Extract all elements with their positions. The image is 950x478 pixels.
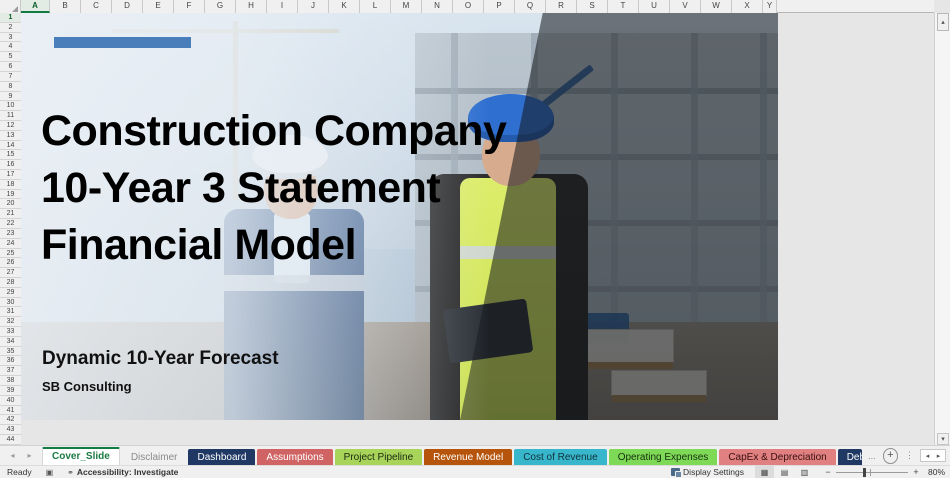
sheet-tab-operating-expenses[interactable]: Operating Expenses (609, 449, 718, 466)
row-header-37[interactable]: 37 (0, 366, 21, 376)
tab-nav-prev-icon[interactable]: ◂ (4, 447, 21, 464)
row-header-8[interactable]: 8 (0, 82, 21, 92)
column-header-p[interactable]: P (484, 0, 515, 13)
row-header-28[interactable]: 28 (0, 278, 21, 288)
tab-nav-next-icon[interactable]: ▸ (21, 447, 38, 464)
row-header-15[interactable]: 15 (0, 150, 21, 160)
row-header-16[interactable]: 16 (0, 160, 21, 170)
column-header-m[interactable]: M (391, 0, 422, 13)
row-header-41[interactable]: 41 (0, 406, 21, 416)
zoom-control[interactable]: − + (818, 467, 926, 477)
row-header-22[interactable]: 22 (0, 219, 21, 229)
zoom-percentage[interactable]: 80% (926, 467, 950, 477)
horizontal-scrollbar[interactable]: ◂ ▸ (920, 449, 946, 462)
row-header-19[interactable]: 19 (0, 190, 21, 200)
column-header-l[interactable]: L (360, 0, 391, 13)
excel-window: ABCDEFGHIJKLMNOPQRSTUVWXY 12345678910111… (0, 0, 950, 478)
column-header-n[interactable]: N (422, 0, 453, 13)
column-header-j[interactable]: J (298, 0, 329, 13)
status-bar: Ready ▣ ⚭ Accessibility: Investigate Dis… (0, 465, 950, 478)
row-header-3[interactable]: 3 (0, 33, 21, 43)
row-header-44[interactable]: 44 (0, 435, 21, 445)
sheet-tab-assumptions[interactable]: Assumptions (257, 449, 332, 466)
column-header-e[interactable]: E (143, 0, 174, 13)
worksheet-grid[interactable]: Construction Company 10-Year 3 Statement… (21, 13, 934, 445)
display-settings-label: Display Settings (683, 467, 744, 477)
page-layout-view-button[interactable]: ▤ (775, 466, 794, 478)
row-header-33[interactable]: 33 (0, 327, 21, 337)
zoom-midpoint-tick (870, 469, 871, 476)
column-header-c[interactable]: C (81, 0, 112, 13)
row-header-34[interactable]: 34 (0, 337, 21, 347)
row-header-4[interactable]: 4 (0, 42, 21, 52)
column-header-a[interactable]: A (21, 0, 50, 13)
row-header-31[interactable]: 31 (0, 307, 21, 317)
zoom-slider-track[interactable] (836, 472, 908, 473)
row-header-7[interactable]: 7 (0, 72, 21, 82)
column-header-w[interactable]: W (701, 0, 732, 13)
row-header-27[interactable]: 27 (0, 268, 21, 278)
column-header-s[interactable]: S (577, 0, 608, 13)
zoom-slider-handle[interactable] (863, 468, 866, 477)
column-header-o[interactable]: O (453, 0, 484, 13)
scroll-down-button[interactable]: ▾ (937, 433, 949, 445)
sheet-tab-disclaimer[interactable]: Disclaimer (122, 449, 187, 466)
vertical-scrollbar[interactable]: ▴ ▾ (934, 13, 950, 445)
column-header-b[interactable]: B (50, 0, 81, 13)
page-break-view-button[interactable]: ▥ (795, 466, 814, 478)
column-header-k[interactable]: K (329, 0, 360, 13)
column-header-strip: ABCDEFGHIJKLMNOPQRSTUVWXY (0, 0, 934, 13)
view-buttons: ▦▤▥ (751, 466, 818, 478)
sheet-tab-dashboard[interactable]: Dashboard (188, 449, 255, 466)
sheet-tab-debt-sched[interactable]: Debt Sched (838, 449, 862, 466)
row-header-38[interactable]: 38 (0, 376, 21, 386)
sheet-tabs: Cover_SlideDisclaimerDashboardAssumption… (42, 446, 864, 466)
display-settings-icon (671, 468, 680, 476)
row-header-11[interactable]: 11 (0, 111, 21, 121)
column-header-f[interactable]: F (174, 0, 205, 13)
zoom-out-button[interactable]: − (824, 467, 832, 477)
row-header-18[interactable]: 18 (0, 180, 21, 190)
accessibility-status[interactable]: ⚭ Accessibility: Investigate (60, 467, 185, 477)
row-header-23[interactable]: 23 (0, 229, 21, 239)
column-header-g[interactable]: G (205, 0, 236, 13)
column-header-r[interactable]: R (546, 0, 577, 13)
row-header-2[interactable]: 2 (0, 23, 21, 33)
accessibility-icon: ⚭ (67, 468, 74, 477)
macro-record-icon[interactable]: ▣ (39, 468, 61, 477)
scroll-right-button[interactable]: ▸ (933, 452, 944, 460)
column-header-d[interactable]: D (112, 0, 143, 13)
scroll-left-button[interactable]: ◂ (922, 452, 933, 460)
sheet-tab-revenue-model[interactable]: Revenue Model (424, 449, 512, 466)
row-header-32[interactable]: 32 (0, 317, 21, 327)
normal-view-button[interactable]: ▦ (755, 466, 774, 478)
slide-subtitle: Dynamic 10-Year Forecast (42, 348, 279, 370)
column-header-u[interactable]: U (639, 0, 670, 13)
column-header-t[interactable]: T (608, 0, 639, 13)
sheet-tab-cover-slide[interactable]: Cover_Slide (42, 447, 120, 466)
select-all-corner[interactable] (0, 0, 21, 13)
row-header-26[interactable]: 26 (0, 258, 21, 268)
tab-overflow-icon[interactable]: ... (864, 451, 880, 461)
row-header-6[interactable]: 6 (0, 62, 21, 72)
column-header-q[interactable]: Q (515, 0, 546, 13)
row-header-42[interactable]: 42 (0, 415, 21, 425)
row-header-35[interactable]: 35 (0, 347, 21, 357)
sheet-tab-project-pipeline[interactable]: Project Pipeline (335, 449, 422, 466)
row-header-29[interactable]: 29 (0, 288, 21, 298)
sheet-tab-capex-depreciation[interactable]: CapEx & Depreciation (719, 449, 835, 466)
row-header-strip: 1234567891011121314151617181920212223242… (0, 13, 21, 445)
row-header-12[interactable]: 12 (0, 121, 21, 131)
accent-bar (54, 37, 191, 48)
row-header-17[interactable]: 17 (0, 170, 21, 180)
macro-record-glyph: ▣ (46, 468, 54, 477)
tab-options-icon[interactable]: ⋮ (901, 450, 918, 461)
row-header-21[interactable]: 21 (0, 209, 21, 219)
row-header-5[interactable]: 5 (0, 52, 21, 62)
row-header-30[interactable]: 30 (0, 298, 21, 308)
row-header-40[interactable]: 40 (0, 396, 21, 406)
row-header-13[interactable]: 13 (0, 131, 21, 141)
row-header-10[interactable]: 10 (0, 101, 21, 111)
accessibility-label: Accessibility: Investigate (77, 467, 179, 477)
vertical-scroll-thumb[interactable]: ▴ (937, 13, 949, 31)
cover-slide-image[interactable]: Construction Company 10-Year 3 Statement… (21, 13, 778, 420)
row-header-9[interactable]: 9 (0, 92, 21, 102)
sheet-tab-cost-of-revenue[interactable]: Cost of Revenue (514, 449, 607, 466)
row-header-14[interactable]: 14 (0, 141, 21, 151)
row-header-25[interactable]: 25 (0, 249, 21, 259)
column-header-i[interactable]: I (267, 0, 298, 13)
add-sheet-button[interactable]: + (883, 448, 898, 464)
row-header-20[interactable]: 20 (0, 199, 21, 209)
display-settings-button[interactable]: Display Settings (664, 467, 751, 477)
column-header-x[interactable]: X (732, 0, 763, 13)
status-mode: Ready (0, 467, 39, 477)
row-header-36[interactable]: 36 (0, 356, 21, 366)
row-header-24[interactable]: 24 (0, 239, 21, 249)
slide-author: SB Consulting (42, 379, 132, 394)
zoom-in-button[interactable]: + (912, 467, 920, 477)
row-header-1[interactable]: 1 (0, 13, 21, 23)
row-header-39[interactable]: 39 (0, 386, 21, 396)
sheet-tab-bar: ◂ ▸ Cover_SlideDisclaimerDashboardAssump… (0, 445, 950, 465)
slide-title: Construction Company 10-Year 3 Statement… (41, 103, 561, 274)
tab-nav-arrows: ◂ ▸ (0, 447, 42, 464)
column-header-h[interactable]: H (236, 0, 267, 13)
row-header-43[interactable]: 43 (0, 425, 21, 435)
column-header-y[interactable]: Y (763, 0, 777, 13)
column-header-v[interactable]: V (670, 0, 701, 13)
